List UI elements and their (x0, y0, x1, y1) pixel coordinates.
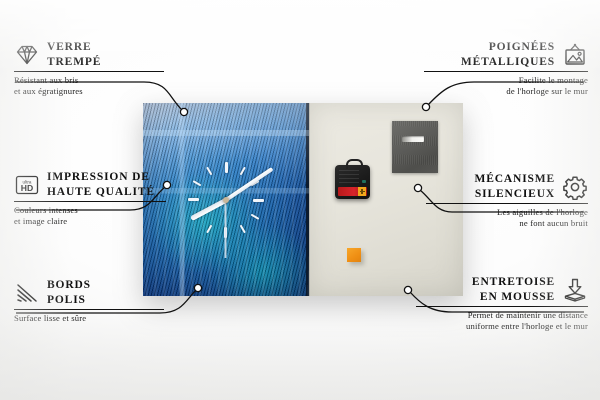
callout-header: ENTRETOISEEN MOUSSE (416, 275, 588, 304)
metal-hanger-plate (392, 121, 438, 173)
battery-plus-terminal (358, 187, 366, 196)
callout-impression: ultra HD IMPRESSION DEHAUTE QUALITÉ Coul… (14, 170, 166, 227)
callout-mecanisme-silencieux: MÉCANISMESILENCIEUX Les aiguilles de l'h… (426, 172, 588, 229)
callout-title: VERRETREMPÉ (47, 40, 101, 69)
mechanism-hanging-loop (346, 159, 363, 169)
callout-bords-polis: BORDSPOLIS Surface lisse et sûre (14, 278, 164, 324)
callout-header: BORDSPOLIS (14, 278, 164, 307)
callout-header: ultra HD IMPRESSION DEHAUTE QUALITÉ (14, 170, 166, 199)
callout-header: VERRETREMPÉ (14, 40, 164, 69)
diamond-icon (14, 42, 40, 68)
callout-poignees-metalliques: POIGNÉESMÉTALLIQUES Facilite le montaged… (424, 40, 588, 97)
clock-mechanism (335, 165, 370, 199)
infographic-canvas: VERRETREMPÉ Résistant aux briset aux égr… (0, 0, 600, 400)
callout-rule (14, 71, 164, 72)
callout-rule (14, 201, 166, 202)
callout-rule (14, 309, 164, 310)
callout-header: POIGNÉESMÉTALLIQUES (424, 40, 588, 69)
callout-title: IMPRESSION DEHAUTE QUALITÉ (47, 170, 155, 199)
svg-text:HD: HD (21, 183, 33, 193)
callout-title: MÉCANISMESILENCIEUX (475, 172, 556, 201)
ultra-hd-icon: ultra HD (14, 172, 40, 198)
callout-rule (424, 71, 588, 72)
callout-subtitle: Couleurs intenseset image claire (14, 205, 166, 227)
hanging-picture-icon (562, 42, 588, 68)
callout-subtitle: Facilite le montagede l'horloge sur le m… (424, 75, 588, 97)
hanger-slot (402, 136, 424, 142)
callout-title: BORDSPOLIS (47, 278, 91, 307)
clock-center-cap (223, 197, 229, 203)
gear-icon (562, 174, 588, 200)
callout-verre-trempe: VERRETREMPÉ Résistant aux briset aux égr… (14, 40, 164, 97)
callout-rule (426, 203, 588, 204)
foam-spacer (347, 248, 361, 262)
product-image (143, 103, 463, 296)
foam-spacer-icon (562, 277, 588, 303)
callout-subtitle: Résistant aux briset aux égratignures (14, 75, 164, 97)
polished-edges-icon (14, 280, 40, 306)
callout-header: MÉCANISMESILENCIEUX (426, 172, 588, 201)
callout-subtitle: Permet de maintenir une distanceuniforme… (416, 310, 588, 332)
battery (338, 187, 367, 196)
callout-title: ENTRETOISEEN MOUSSE (472, 275, 555, 304)
callout-subtitle: Surface lisse et sûre (14, 313, 164, 324)
mechanism-indicator (362, 180, 366, 183)
callout-title: POIGNÉESMÉTALLIQUES (461, 40, 555, 69)
clock-face-panel (143, 103, 309, 296)
callout-rule (416, 306, 588, 307)
mechanism-detail (339, 170, 359, 184)
callout-subtitle: Les aiguilles de l'horlogene font aucun … (426, 207, 588, 229)
callout-entretoise-en-mousse: ENTRETOISEEN MOUSSE Permet de maintenir … (416, 275, 588, 332)
